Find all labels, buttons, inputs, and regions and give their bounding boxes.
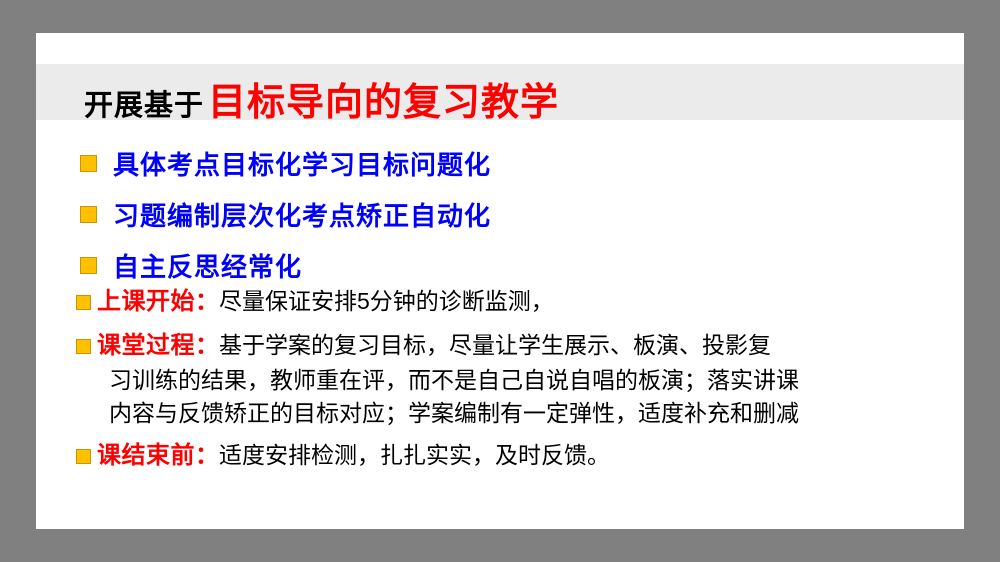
paragraph-line: 适度安排检测，扎扎实实，及时反馈。 — [219, 442, 610, 468]
bullet-text-left: 自主反思经常化 — [113, 247, 302, 284]
paragraph-body: 课堂过程：基于学案的复习目标，尽量让学生展示、板演、投影复 习训练的结果，教师重… — [97, 329, 799, 430]
bullet-text-right: 学习目标问题化 — [302, 145, 491, 182]
paragraph-lead: 上课开始 — [97, 288, 195, 315]
paragraph-item: 课堂过程：基于学案的复习目标，尽量让学生展示、板演、投影复 习训练的结果，教师重… — [76, 329, 936, 430]
square-bullet-icon — [76, 449, 91, 464]
paragraph-colon: ： — [195, 442, 219, 469]
paragraph-item: 课结束前：适度安排检测，扎扎实实，及时反馈。 — [76, 439, 936, 474]
title-main: 目标导向的复习教学 — [208, 71, 559, 126]
list-item: 具体考点目标化 学习目标问题化 — [80, 145, 920, 182]
paragraph-lead: 课结束前 — [97, 442, 195, 469]
square-bullet-icon — [76, 339, 91, 354]
list-item: 自主反思经常化 — [80, 247, 920, 284]
bullet-text-left: 习题编制层次化 — [113, 196, 302, 233]
paragraph-body: 上课开始：尽量保证安排5分钟的诊断监测， — [97, 285, 554, 320]
paragraph-line: 内容与反馈矫正的目标对应；学案编制有一定弹性，适度补充和删减 — [109, 397, 799, 430]
paragraph-line: 习训练的结果，教师重在评，而不是自己自说自唱的板演；落实讲课 — [109, 364, 799, 397]
bullet-text-right: 考点矫正自动化 — [302, 196, 491, 233]
square-bullet-icon — [80, 257, 97, 274]
paragraph-item: 上课开始：尽量保证安排5分钟的诊断监测， — [76, 285, 936, 320]
slide-title: 开展基于 目标导向的复习教学 — [84, 71, 559, 126]
paragraph-list: 上课开始：尽量保证安排5分钟的诊断监测， 课堂过程：基于学案的复习目标，尽量让学… — [76, 285, 936, 483]
bullet-text-left: 具体考点目标化 — [113, 145, 302, 182]
paragraph-body: 课结束前：适度安排检测，扎扎实实，及时反馈。 — [97, 439, 610, 474]
paragraph-lead: 课堂过程 — [97, 332, 195, 359]
title-prefix: 开展基于 — [84, 82, 204, 124]
square-bullet-icon — [76, 295, 91, 310]
square-bullet-icon — [80, 206, 97, 223]
paragraph-colon: ： — [195, 332, 219, 359]
square-bullet-icon — [80, 155, 97, 172]
paragraph-line: 尽量保证安排5分钟的诊断监测， — [219, 288, 554, 314]
paragraph-line: 基于学案的复习目标，尽量让学生展示、板演、投影复 — [219, 332, 771, 358]
bullet-list: 具体考点目标化 学习目标问题化 习题编制层次化 考点矫正自动化 自主反思经常化 — [80, 145, 920, 298]
slide-canvas: 开展基于 目标导向的复习教学 具体考点目标化 学习目标问题化 习题编制层次化 考… — [36, 33, 964, 529]
list-item: 习题编制层次化 考点矫正自动化 — [80, 196, 920, 233]
paragraph-colon: ： — [195, 288, 219, 315]
